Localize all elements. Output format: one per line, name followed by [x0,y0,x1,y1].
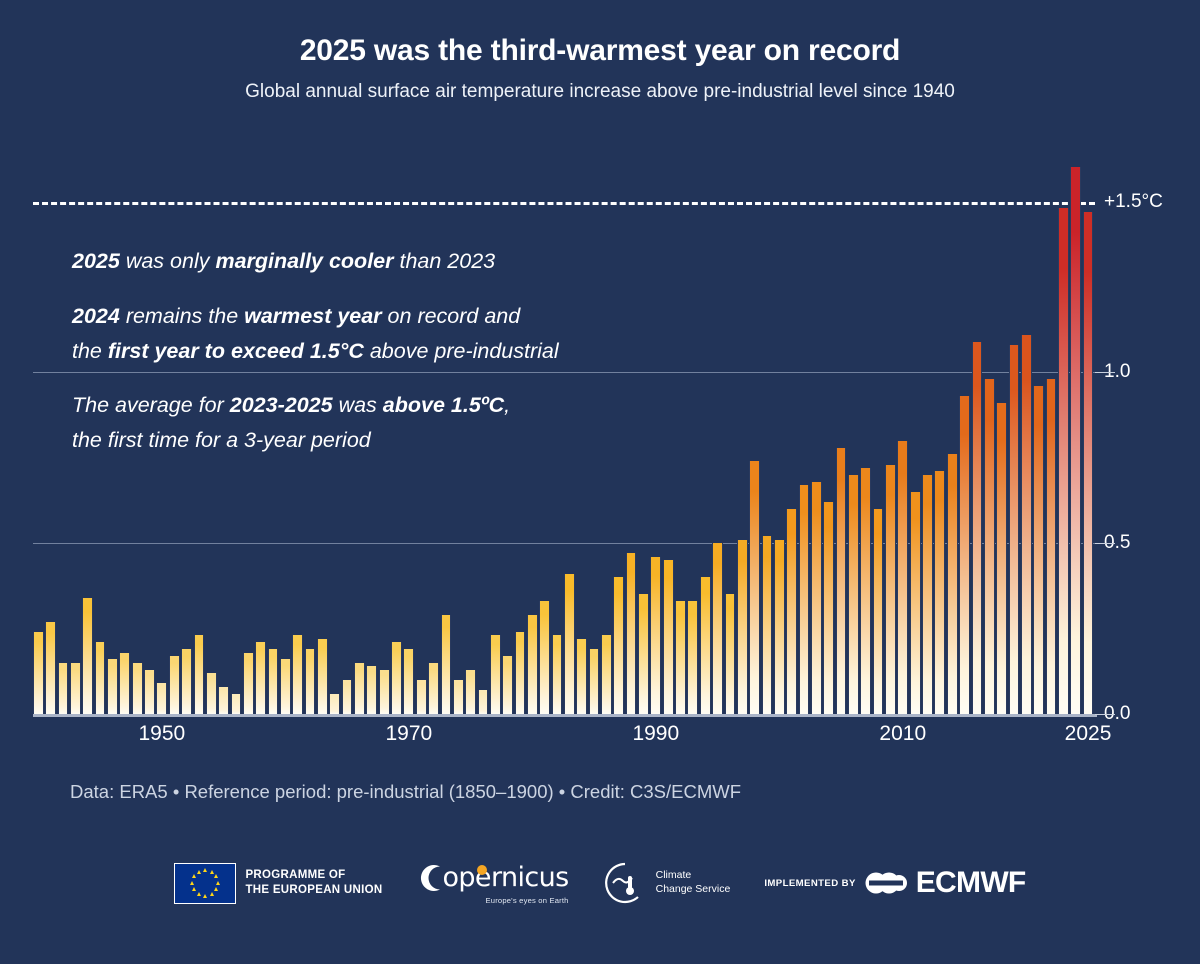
bar-1945 [95,642,106,714]
bar-1953 [194,635,205,714]
ecmwf-cloud-icon [865,869,907,897]
bar-1951 [169,656,180,714]
ann-2: 2024 remains the warmest year on record … [72,299,692,369]
bar-2024 [1070,167,1081,714]
y-tick-label: +1.5°C [1104,191,1163,213]
bar-1987 [613,577,624,714]
bar-2010 [897,441,908,714]
bar-1955 [218,687,229,714]
x-tick-label: 1950 [139,722,186,746]
bar-1975 [465,670,476,714]
bar-1998 [749,461,760,714]
copernicus-logo-icon: opernicus Europe's eyes on Earth [416,862,568,905]
eu-star-icon [197,870,201,874]
bar-1999 [762,536,773,714]
implemented-by-label: IMPLEMENTED BY [764,878,855,889]
bar-1966 [354,663,365,714]
bar-1996 [725,594,736,714]
y-tick-mark [1095,714,1115,715]
bar-1957 [243,653,254,715]
eu-flag-icon [174,863,236,904]
c3s-line2: Change Service [656,883,731,897]
copernicus-tagline: Europe's eyes on Earth [416,896,568,905]
bar-1990 [650,557,661,714]
chart-subtitle: Global annual surface air temperature in… [0,81,1200,103]
bar-1950 [156,683,167,714]
ann-3: The average for 2023-2025 was above 1.5º… [72,388,692,458]
x-tick-label: 2025 [1065,722,1112,746]
eu-logo-text: PROGRAMME OF THE EUROPEAN UNION [245,868,382,897]
bar-1961 [292,635,303,714]
bar-1995 [712,543,723,714]
ecmwf-wordmark: ECMWF [916,866,1026,900]
bar-1944 [82,598,93,714]
page-title: 2025 was the third-warmest year on recor… [0,34,1200,67]
bar-1942 [58,663,69,714]
bar-1974 [453,680,464,714]
bar-1983 [564,574,575,714]
eu-star-icon [214,874,218,878]
bar-2002 [799,485,810,714]
bar-1963 [317,639,328,714]
bar-2003 [811,482,822,714]
bar-1972 [428,663,439,714]
bar-1986 [601,635,612,714]
annotation-block: 2025 was only marginally cooler than 202… [72,244,692,458]
bar-1970 [403,649,414,714]
c3s-line1: Climate [656,869,731,883]
bar-2013 [934,471,945,714]
bar-1982 [552,635,563,714]
bar-2012 [922,475,933,714]
eu-star-icon [210,892,214,896]
bar-1969 [391,642,402,714]
bar-2009 [885,465,896,714]
copernicus-c-icon [416,862,442,894]
bar-2018 [996,403,1007,714]
bar-1948 [132,663,143,714]
ecmwf-logo-group: IMPLEMENTED BY ECMWF [764,866,1025,900]
bar-1962 [305,649,316,714]
bar-1968 [379,670,390,714]
bar-1959 [268,649,279,714]
eu-star-icon [210,870,214,874]
bar-1992 [675,601,686,714]
bar-1981 [539,601,550,714]
bar-2023 [1058,208,1069,714]
copernicus-logo-group: opernicus Europe's eyes on Earth [416,862,568,905]
bar-1977 [490,635,501,714]
bar-1943 [70,663,81,714]
bar-2008 [873,509,884,714]
bar-2011 [910,492,921,714]
eu-star-icon [203,868,207,872]
bar-1958 [255,642,266,714]
climate-change-service-icon [603,861,647,905]
x-axis-line [33,714,1097,717]
bar-1988 [626,553,637,714]
bar-2019 [1009,345,1020,714]
bar-1960 [280,659,291,714]
bar-2006 [848,475,859,714]
copernicus-wordmark: opernicus [442,864,568,891]
bar-1946 [107,659,118,714]
bar-2017 [984,379,995,714]
eu-star-icon [192,887,196,891]
x-tick-label: 1970 [385,722,432,746]
bar-1956 [231,694,242,715]
bar-1967 [366,666,377,714]
bar-1947 [119,653,130,715]
y-tick-mark [1095,372,1115,373]
bar-1978 [502,656,513,714]
c3s-logo-group: Climate Change Service [603,861,731,905]
bar-1985 [589,649,600,714]
bar-2022 [1046,379,1057,714]
eu-logo-group: PROGRAMME OF THE EUROPEAN UNION [174,863,382,904]
credit-line: Data: ERA5 • Reference period: pre-indus… [70,781,741,803]
copernicus-dot-icon [477,865,487,875]
bar-2000 [774,540,785,714]
bar-2016 [972,342,983,714]
bar-1989 [638,594,649,714]
c3s-logo-text: Climate Change Service [656,869,731,896]
bar-1973 [441,615,452,714]
bar-1984 [576,639,587,714]
logo-bar: PROGRAMME OF THE EUROPEAN UNION opernicu… [0,852,1200,914]
bar-2025 [1083,212,1094,714]
x-tick-label: 2010 [879,722,926,746]
bar-1949 [144,670,155,714]
bar-2020 [1021,335,1032,714]
bar-1979 [515,632,526,714]
bar-1954 [206,673,217,714]
bar-2005 [836,448,847,715]
bar-2014 [947,454,958,714]
bar-2001 [786,509,797,714]
eu-star-icon [190,881,194,885]
eu-star-icon [214,887,218,891]
bar-1980 [527,615,538,714]
bar-1952 [181,649,192,714]
bar-1971 [416,680,427,714]
bar-2004 [823,502,834,714]
y-tick-mark [1095,543,1115,544]
bar-1964 [329,694,340,715]
eu-star-icon [203,894,207,898]
chart-header: 2025 was the third-warmest year on recor… [0,0,1200,103]
eu-star-icon [192,874,196,878]
ann-1: 2025 was only marginally cooler than 202… [72,244,692,279]
x-tick-label: 1990 [632,722,679,746]
bar-2021 [1033,386,1044,714]
bar-1940 [33,632,44,714]
eu-star-icon [197,892,201,896]
eu-logo-line1: PROGRAMME OF [245,868,382,883]
eu-logo-line2: THE EUROPEAN UNION [245,883,382,898]
bar-1976 [478,690,489,714]
bar-1993 [687,601,698,714]
bar-1965 [342,680,353,714]
bar-1997 [737,540,748,714]
bar-1994 [700,577,711,714]
eu-star-icon [216,881,220,885]
bar-2007 [860,468,871,714]
bar-1991 [663,560,674,714]
bar-1941 [45,622,56,714]
bar-2015 [959,396,970,714]
